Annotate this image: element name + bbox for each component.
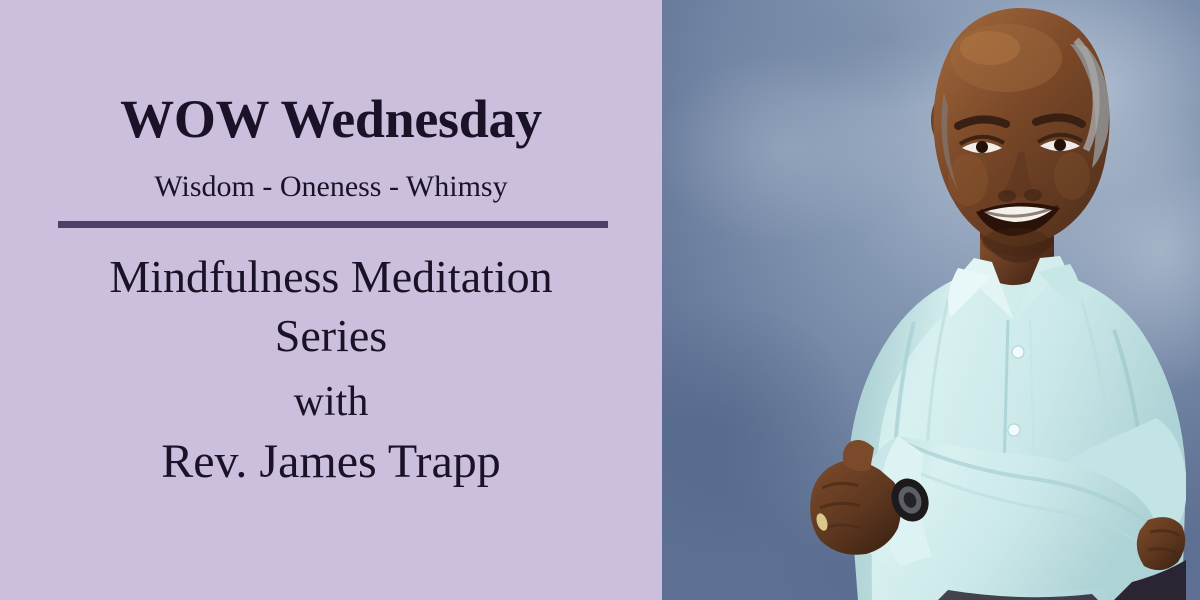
tagline: Wisdom - Oneness - Whimsy [0, 170, 662, 203]
divider [58, 221, 608, 228]
series-title-line-2: Series [0, 307, 662, 366]
series-title-line-1: Mindfulness Meditation [0, 248, 662, 307]
page-title: WOW Wednesday [0, 92, 662, 146]
with-label: with [0, 378, 662, 426]
presenter-name: Rev. James Trapp [0, 434, 662, 489]
event-banner: WOW Wednesday Wisdom - Oneness - Whimsy … [0, 0, 1200, 600]
text-panel: WOW Wednesday Wisdom - Oneness - Whimsy … [0, 0, 662, 600]
presenter-photo [662, 0, 1200, 600]
series-title: Mindfulness Meditation Series [0, 248, 662, 366]
